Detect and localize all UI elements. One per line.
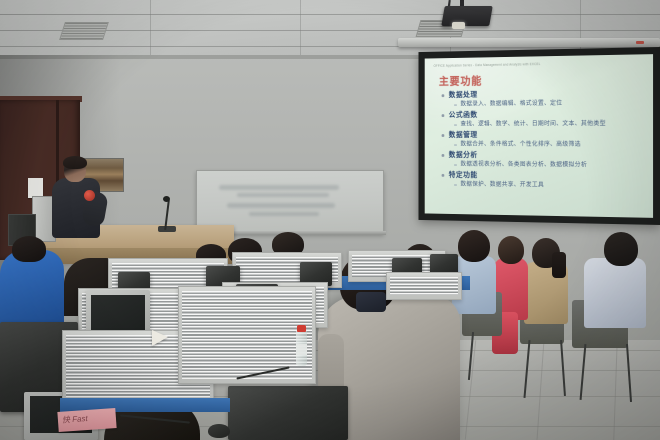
water-bottle-cap [297,325,306,332]
student-head [498,236,524,264]
projector-lens-icon [452,22,465,29]
partition-louver [390,277,458,295]
monitor-screen [91,295,145,335]
crt-monitor-foreground [228,386,348,440]
slide-group: 数据处理 数据录入、数据编辑、格式设置、定位 [441,88,645,109]
water-bottle-label [296,344,307,355]
pull-down-projection-screen: OFFICE Application Series - Data Managem… [419,47,660,225]
instructor-hair [63,156,87,169]
slide-detail: 数据透视表分析、各类图表分析、数据模拟分析 [441,160,645,171]
desk-label-tag: 快 Fast [57,408,116,432]
posted-paper-note [28,178,43,198]
student-collar [356,292,386,312]
student-long-hair [552,252,566,278]
slide-detail: 查找、逻辑、数学、统计、日期时间、文本、其他类型 [441,119,645,129]
slide-body: 数据处理 数据录入、数据编辑、格式设置、定位 公式函数 查找、逻辑、数学、统计、… [441,88,645,193]
student-blue-jacket-head [12,236,46,262]
slide-group: 公式函数 查找、逻辑、数学、统计、日期时间、文本、其他类型 [441,109,645,129]
student-light-shirt-torso [584,258,646,328]
desk-partition [386,272,462,300]
student-head [604,232,638,266]
slide-surface: OFFICE Application Series - Data Managem… [425,54,653,218]
ceiling-projector [441,6,493,26]
slide-group: 数据管理 数据合并、条件格式、个性化排序、高级筛选 [441,130,645,150]
classroom-photo: OFFICE Application Series - Data Managem… [0,0,660,440]
slide-detail: 数据合并、条件格式、个性化排序、高级筛选 [441,140,645,150]
slide-detail: 数据录入、数据编辑、格式设置、定位 [441,98,645,109]
projection-screen-case [398,38,660,47]
slide-title: 主要功能 [439,73,482,89]
student-head [458,230,490,262]
paper-note-flag [152,330,168,346]
computer-mouse [208,424,230,438]
partition-louver [182,291,312,379]
ceiling-vent-icon [59,22,109,40]
desk-label-text: 快 Fast [62,413,88,426]
instructor-badge [84,190,95,201]
slide-group: 数据分析 数据透视表分析、各类图表分析、数据模拟分析 [441,150,645,171]
slide-heading: 数据管理 [441,130,645,140]
screen-case-knob [636,41,644,44]
slide-group: 特定功能 数据保护、数据共享、开发工具 [441,170,645,192]
microphone-icon [163,196,170,202]
crt-monitor [430,254,458,274]
slide-detail: 数据保护、数据共享、开发工具 [441,180,645,192]
microphone-base [158,226,176,232]
